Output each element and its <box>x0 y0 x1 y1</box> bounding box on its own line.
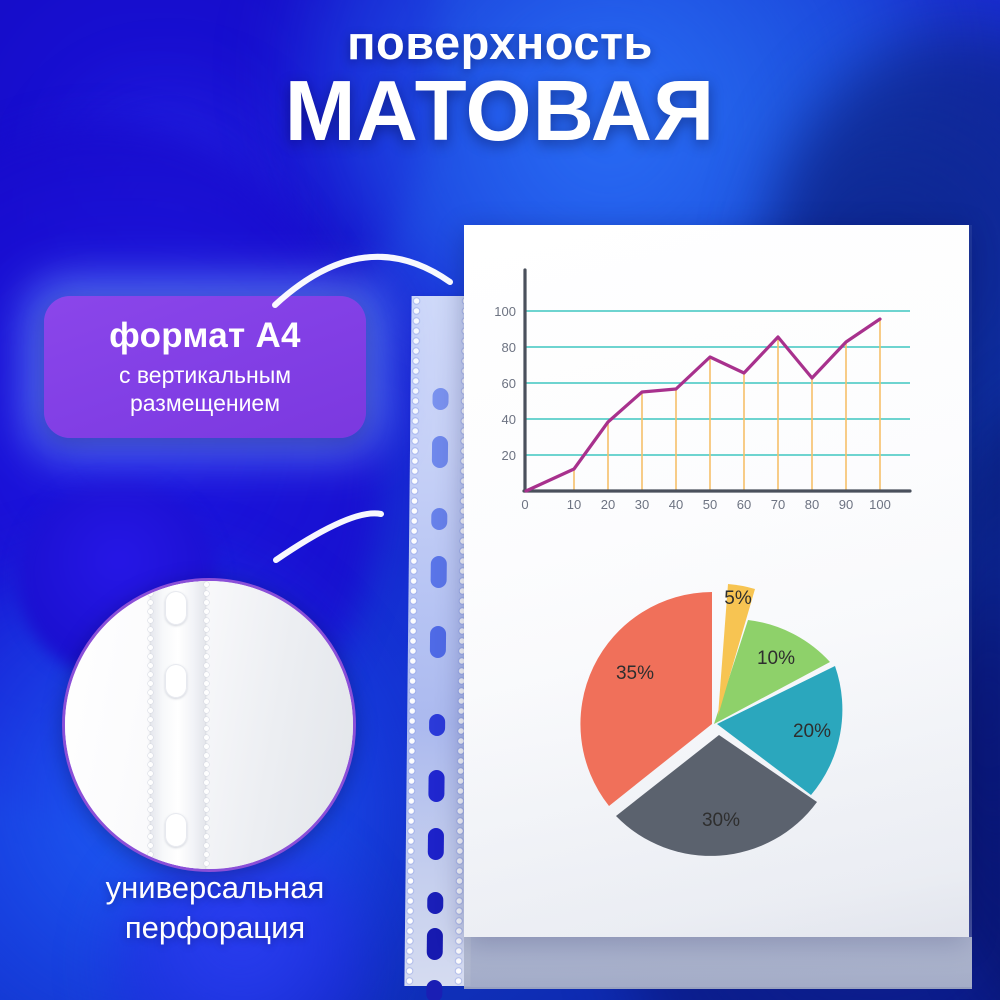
svg-text:60: 60 <box>737 497 751 512</box>
line-chart-y-ticklabels: 100 80 60 40 20 <box>494 304 516 463</box>
svg-text:0: 0 <box>521 497 528 512</box>
punch-hole <box>427 892 443 914</box>
closeup-serration-right <box>203 578 210 872</box>
badge-subtitle: с вертикальным размещением <box>44 361 366 417</box>
line-chart-series <box>526 319 880 491</box>
svg-text:10: 10 <box>567 497 581 512</box>
svg-text:40: 40 <box>669 497 683 512</box>
svg-text:20: 20 <box>502 448 516 463</box>
punch-hole <box>428 828 444 860</box>
closeup-hole <box>165 591 187 625</box>
pie-chart: 35% 5% 10% 20% 30% <box>545 552 885 892</box>
closeup-serration-left <box>147 578 154 872</box>
svg-text:80: 80 <box>805 497 819 512</box>
format-badge: формат А4 с вертикальным размещением <box>44 296 366 438</box>
closeup-hole <box>165 664 187 698</box>
closeup-hole <box>165 813 187 847</box>
svg-text:100: 100 <box>869 497 891 512</box>
line-chart: 100 80 60 40 20 0 10 20 30 40 50 60 70 8… <box>488 262 918 512</box>
punch-hole <box>428 770 444 802</box>
svg-text:50: 50 <box>703 497 717 512</box>
punch-hole <box>432 388 448 410</box>
promo-banner: поверхность МАТОВАЯ формат А4 с вертикал… <box>0 0 1000 1000</box>
svg-text:90: 90 <box>839 497 853 512</box>
pie-label-5: 5% <box>724 588 752 609</box>
punch-hole <box>426 980 442 1000</box>
punch-hole <box>432 436 448 468</box>
perforation-caption: универсальная перфорация <box>30 868 400 949</box>
badge-title: формат А4 <box>109 317 301 356</box>
line-chart-x-ticklabels: 0 10 20 30 40 50 60 70 80 90 100 <box>521 497 890 512</box>
punch-hole <box>429 714 445 736</box>
svg-text:70: 70 <box>771 497 785 512</box>
punch-hole <box>427 928 443 960</box>
svg-text:30: 30 <box>635 497 649 512</box>
pie-label-35: 35% <box>616 663 654 684</box>
sleeve-bottom-fold <box>464 937 972 989</box>
punch-hole <box>430 626 446 658</box>
svg-text:20: 20 <box>601 497 615 512</box>
perforation-closeup <box>62 578 356 872</box>
pie-label-20: 20% <box>793 721 831 742</box>
pie-label-10: 10% <box>757 648 795 669</box>
line-chart-droplines <box>574 319 880 491</box>
line-chart-grid <box>524 311 910 455</box>
punch-hole <box>431 556 447 588</box>
svg-text:60: 60 <box>502 376 516 391</box>
pie-label-30: 30% <box>702 810 740 831</box>
svg-text:80: 80 <box>502 340 516 355</box>
svg-text:100: 100 <box>494 304 516 319</box>
svg-text:40: 40 <box>502 412 516 427</box>
punch-hole <box>431 508 447 530</box>
